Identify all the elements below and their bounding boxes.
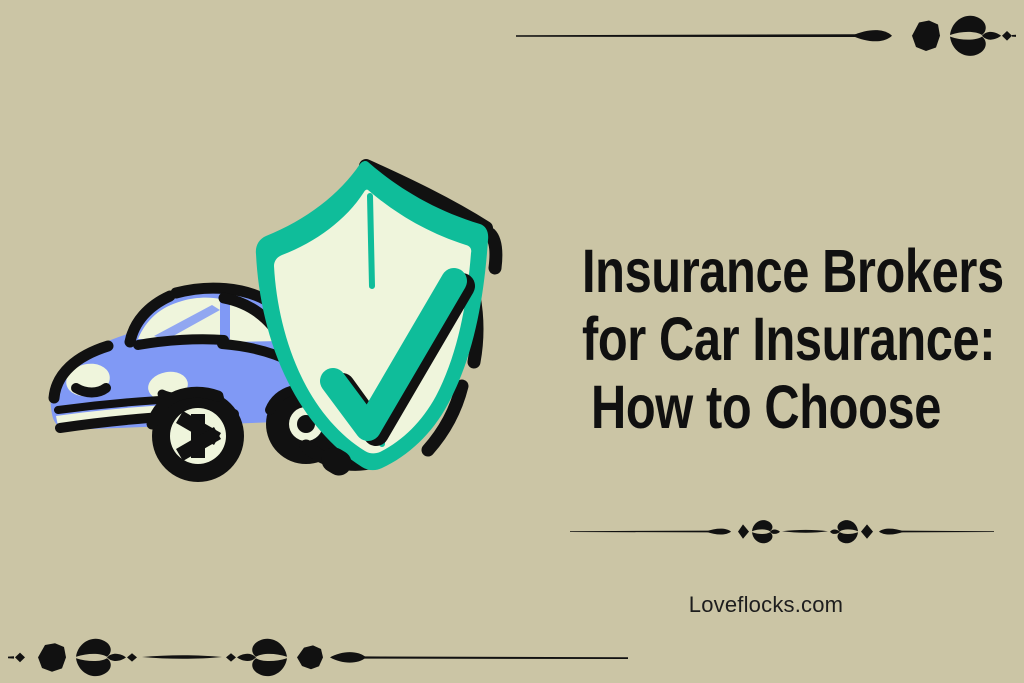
ornament-divider-middle-right (570, 508, 994, 556)
page-title: Insurance Brokers for Car Insurance: How… (582, 237, 950, 441)
headline-line-2: for Car Insurance: (582, 305, 950, 373)
ornament-divider-bottom-left (8, 632, 628, 683)
headline-line-3: How to Choose (582, 373, 950, 441)
checkmark-shadow (334, 460, 339, 463)
car-and-shield-illustration (34, 148, 534, 508)
site-credit: Loveflocks.com (536, 592, 996, 618)
headline-line-1: Insurance Brokers (582, 237, 950, 305)
poster-canvas: Insurance Brokers for Car Insurance: How… (0, 0, 1024, 683)
ornament-divider-top-right (516, 8, 1016, 64)
